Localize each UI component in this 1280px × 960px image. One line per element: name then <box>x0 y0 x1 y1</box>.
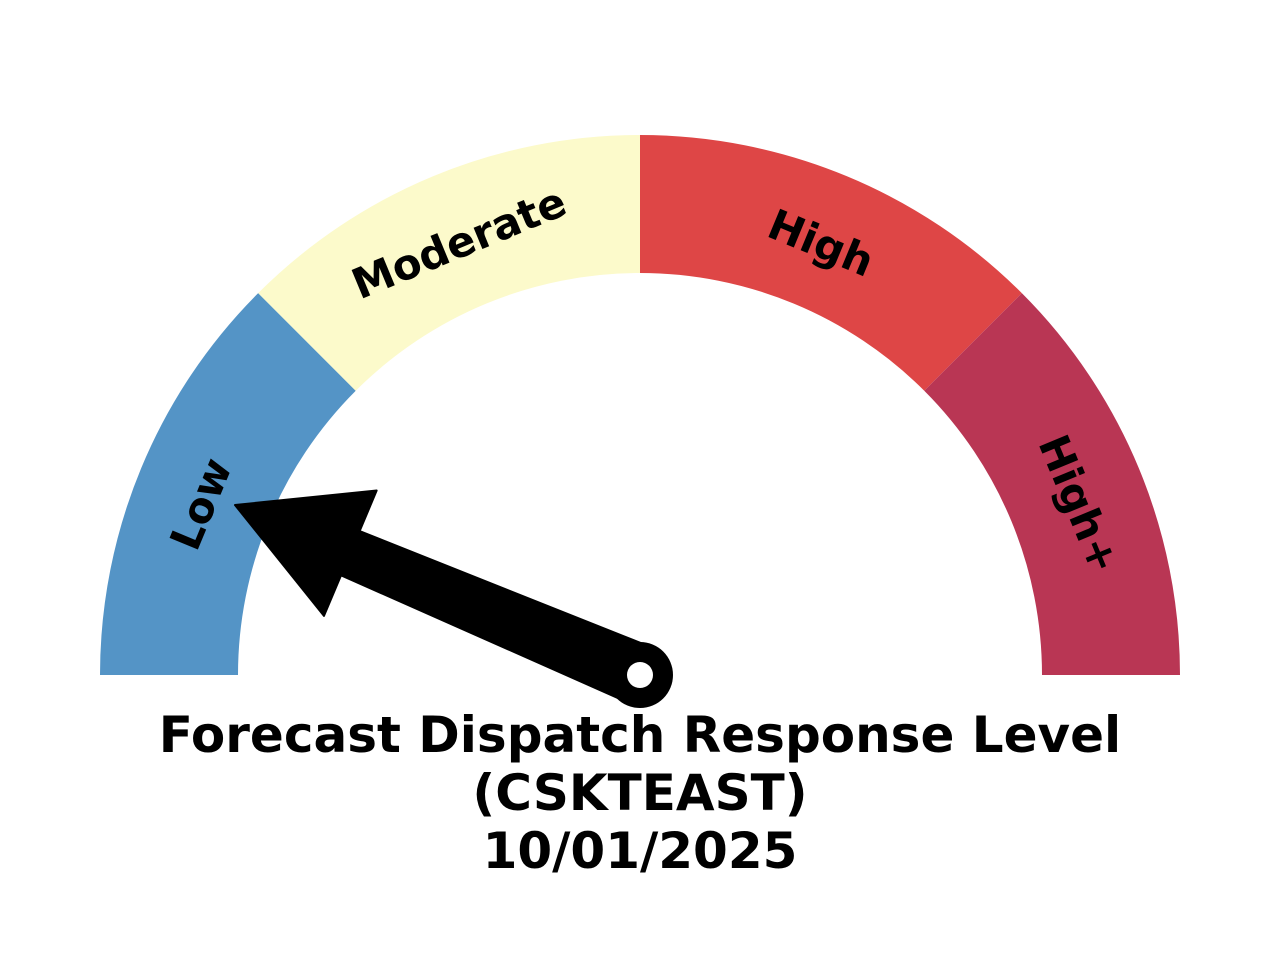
needle-hub-center <box>627 662 653 688</box>
chart-title-line-1: Forecast Dispatch Response Level <box>159 706 1121 764</box>
gauge-chart: LowModerateHighHigh+ Forecast Dispatch R… <box>0 0 1280 960</box>
chart-title-line-3: 10/01/2025 <box>483 822 798 880</box>
gauge-figure: LowModerateHighHigh+ Forecast Dispatch R… <box>0 0 1280 960</box>
chart-title-line-2: (CSKTEAST) <box>472 764 807 822</box>
